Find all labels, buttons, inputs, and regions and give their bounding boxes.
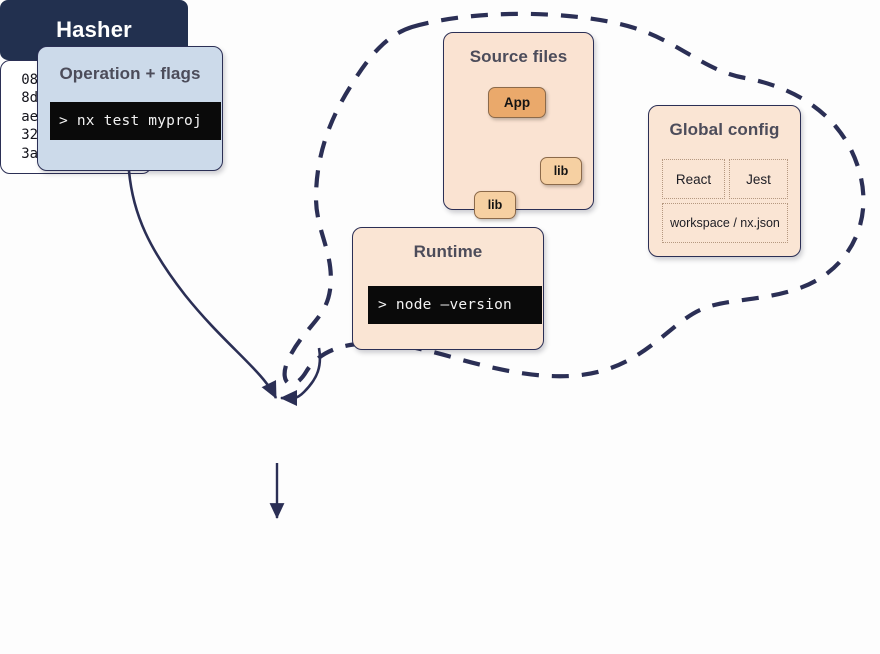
edge-operation-to-hasher [129,171,276,398]
source-files-card[interactable]: Source files App lib lib [443,32,594,210]
global-config-item-jest[interactable]: Jest [729,159,788,199]
source-files-title: Source files [444,47,593,67]
global-config-title: Global config [649,120,800,140]
runtime-card[interactable]: Runtime > node –version [352,227,544,350]
global-config-item-workspace[interactable]: workspace / nx.json [662,203,788,243]
operation-terminal: > nx test myproj [50,102,221,140]
source-node-lib-left[interactable]: lib [474,191,516,219]
source-node-lib-right[interactable]: lib [540,157,582,185]
hasher-label: Hasher [56,17,132,43]
global-config-item-react[interactable]: React [662,159,725,199]
edge-inputs-to-hasher [281,348,320,399]
runtime-title: Runtime [353,242,543,262]
runtime-terminal: > node –version [368,286,542,324]
global-config-card[interactable]: Global config React Jest workspace / nx.… [648,105,801,257]
operation-flags-card[interactable]: Operation + flags > nx test myproj [37,46,223,171]
operation-flags-title: Operation + flags [38,64,222,84]
source-node-app[interactable]: App [488,87,546,118]
diagram-canvas: Operation + flags > nx test myproj Sourc… [0,0,880,654]
